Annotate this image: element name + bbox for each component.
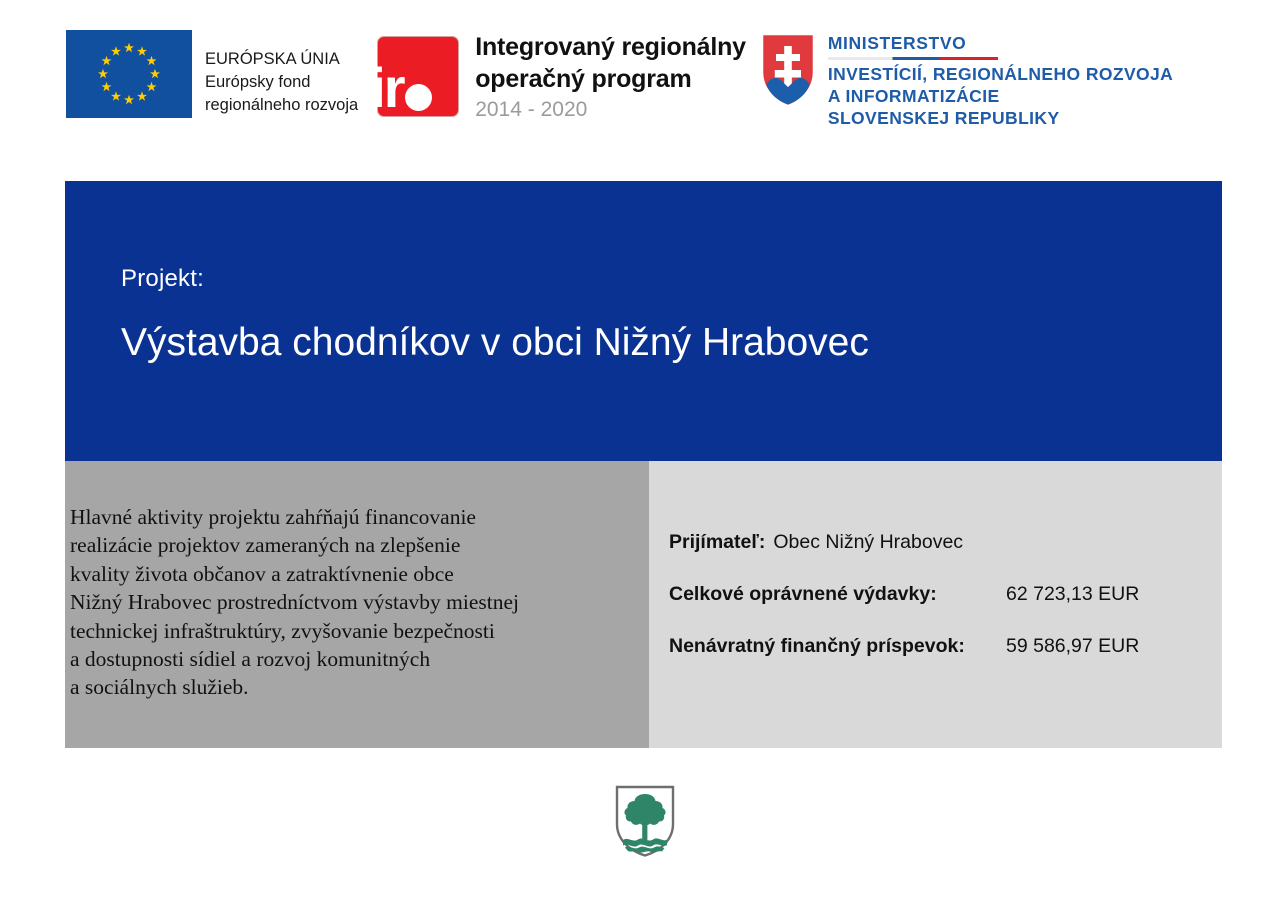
irop-line-1: Integrovaný regionálny [475, 31, 746, 63]
slovak-coat-of-arms-icon [760, 32, 816, 108]
beneficiary-label: Prijímateľ: [669, 531, 765, 554]
irop-logo-icon: irp [372, 30, 462, 122]
eu-line-3: regionálneho rozvoja [205, 94, 358, 117]
eu-logo-block: EURÓPSKA ÚNIA Európsky fond regionálneho… [66, 30, 358, 118]
fact-row-eligible-expenditure: Celkové oprávnené výdavky: 62 723,13 EUR [669, 583, 1202, 606]
ministry-line-2: A INFORMATIZÁCIE [828, 85, 1173, 107]
beneficiary-value: Obec Nižný Hrabovec [773, 531, 963, 554]
eu-logo-text: EURÓPSKA ÚNIA Európsky fond regionálneho… [205, 30, 358, 116]
header-logo-strip: EURÓPSKA ÚNIA Európsky fond regionálneho… [66, 30, 1246, 135]
grant-label: Nenávratný finančný príspevok: [669, 635, 1006, 658]
project-description-panel: Hlavné aktivity projektu zahŕňajú financ… [65, 461, 649, 748]
ministry-logo-text: MINISTERSTVO INVESTÍCIÍ, REGIONÁLNEHO RO… [828, 30, 1173, 129]
irop-logo-wordmark: irp [372, 60, 462, 122]
irop-line-2: operačný program [475, 63, 746, 95]
irop-logo-block: irp Integrovaný regionálny operačný prog… [372, 30, 746, 123]
project-facts-list: Prijímateľ: Obec Nižný Hrabovec Celkové … [669, 531, 1202, 658]
eu-line-2: Európsky fond [205, 71, 358, 94]
project-title: Výstavba chodníkov v obci Nižný Hrabovec [121, 321, 869, 365]
irop-logo-text: Integrovaný regionálny operačný program … [475, 30, 746, 123]
fact-row-grant: Nenávratný finančný príspevok: 59 586,97… [669, 635, 1202, 658]
fact-row-beneficiary: Prijímateľ: Obec Nižný Hrabovec [669, 531, 1202, 554]
eu-flag-icon [66, 30, 192, 118]
irop-period: 2014 - 2020 [475, 96, 746, 123]
municipal-crest [614, 784, 676, 858]
eu-line-1: EURÓPSKA ÚNIA [205, 48, 358, 71]
eligible-expenditure-value: 62 723,13 EUR [1006, 583, 1139, 606]
ministry-tricolor-rule [828, 57, 998, 60]
ministry-heading: MINISTERSTVO [828, 33, 966, 53]
nizny-hrabovec-coat-of-arms-icon [614, 784, 676, 858]
ministry-line-3: SLOVENSKEJ REPUBLIKY [828, 107, 1173, 129]
project-banner: Projekt: Výstavba chodníkov v obci Nižný… [65, 181, 1222, 461]
irop-logo-o-glyph [405, 84, 432, 111]
grant-value: 59 586,97 EUR [1006, 635, 1139, 658]
project-description-text: Hlavné aktivity projektu zahŕňajú financ… [70, 503, 709, 702]
project-label: Projekt: [121, 265, 204, 293]
ministry-logo-block: MINISTERSTVO INVESTÍCIÍ, REGIONÁLNEHO RO… [760, 30, 1173, 129]
ministry-line-1: INVESTÍCIÍ, REGIONÁLNEHO ROZVOJA [828, 63, 1173, 85]
info-panels: Hlavné aktivity projektu zahŕňajú financ… [65, 461, 1222, 748]
eligible-expenditure-label: Celkové oprávnené výdavky: [669, 583, 1006, 606]
project-facts-panel: Prijímateľ: Obec Nižný Hrabovec Celkové … [649, 461, 1222, 748]
